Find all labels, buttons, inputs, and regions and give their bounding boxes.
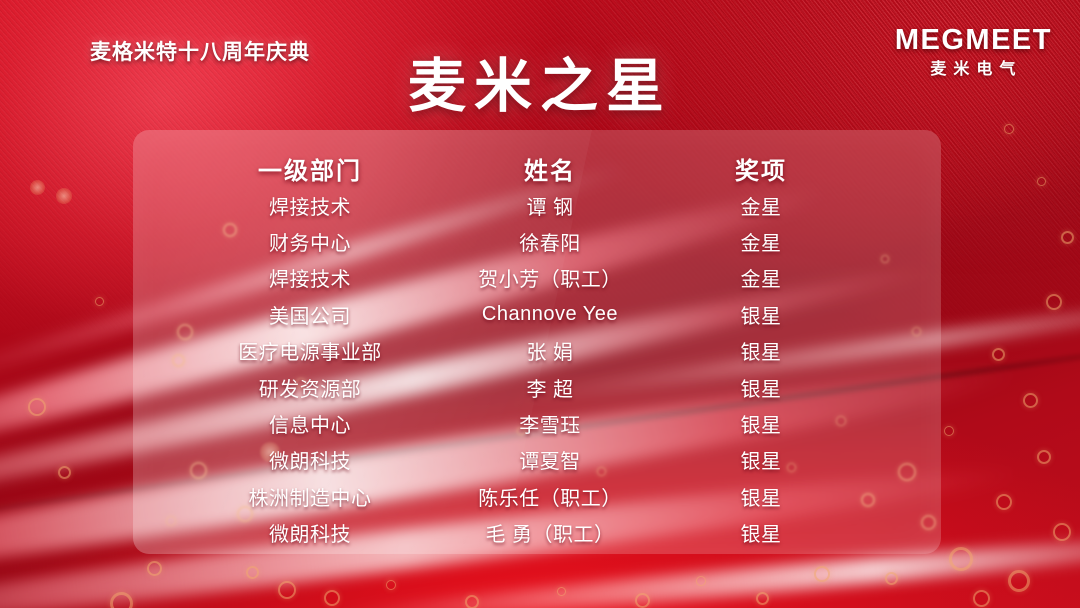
- table-cell-award: 金星: [667, 263, 855, 292]
- table-row: 株洲制造中心陈乐任（职工）银星: [133, 478, 941, 514]
- table-cell-name: 徐春阳: [427, 227, 673, 256]
- table-cell-award: 银星: [667, 336, 855, 365]
- award-table-panel: 一级部门姓名奖项焊接技术谭 钢金星财务中心徐春阳金星焊接技术贺小芳（职工）金星美…: [133, 130, 941, 554]
- table-cell-award: 银星: [667, 373, 855, 402]
- table-cell-department: 株洲制造中心: [190, 482, 430, 511]
- table-cell-department: 信息中心: [190, 409, 430, 438]
- table-cell-award: 银星: [667, 409, 855, 438]
- column-header-award: 奖项: [667, 151, 855, 186]
- table-cell-department: 微朗科技: [190, 445, 430, 474]
- table-cell-award: 金星: [667, 191, 855, 220]
- brand-logo-wordmark: MEGMEET: [895, 26, 1052, 55]
- table-row: 微朗科技毛 勇（职工）银星: [133, 515, 941, 551]
- table-header-row: 一级部门姓名奖项: [133, 150, 941, 186]
- table-row: 微朗科技谭夏智银星: [133, 442, 941, 478]
- table-cell-department: 美国公司: [190, 300, 430, 329]
- table-cell-award: 银星: [667, 445, 855, 474]
- slide-canvas: 麦格米特十八周年庆典 麦米之星 MEGMEET 麦米电气 一级部门姓名奖项焊接技…: [0, 0, 1080, 608]
- table-cell-department: 焊接技术: [190, 263, 430, 292]
- award-table: 一级部门姓名奖项焊接技术谭 钢金星财务中心徐春阳金星焊接技术贺小芳（职工）金星美…: [133, 130, 941, 554]
- table-cell-name: 李 超: [427, 373, 673, 402]
- column-header-name: 姓名: [427, 151, 673, 186]
- table-cell-award: 银星: [667, 482, 855, 511]
- table-cell-department: 医疗电源事业部: [190, 336, 430, 365]
- table-cell-name: 谭 钢: [427, 191, 673, 220]
- table-row: 财务中心徐春阳金星: [133, 223, 941, 259]
- table-cell-department: 微朗科技: [190, 518, 430, 547]
- table-row: 焊接技术谭 钢金星: [133, 187, 941, 223]
- table-cell-name: 张 娟: [427, 336, 673, 365]
- brand-logo-subtitle: 麦米电气: [895, 62, 1052, 78]
- brand-logo: MEGMEET 麦米电气: [895, 26, 1052, 78]
- table-row: 美国公司Channove Yee银星: [133, 296, 941, 332]
- table-cell-award: 银星: [667, 300, 855, 329]
- table-cell-award: 金星: [667, 227, 855, 256]
- table-row: 焊接技术贺小芳（职工）金星: [133, 260, 941, 296]
- table-cell-department: 财务中心: [190, 227, 430, 256]
- table-cell-name: 陈乐任（职工）: [427, 482, 673, 511]
- table-cell-name: 李雪珏: [427, 409, 673, 438]
- table-cell-award: 银星: [667, 518, 855, 547]
- table-cell-name: 毛 勇（职工）: [427, 518, 673, 547]
- table-cell-name: 谭夏智: [427, 445, 673, 474]
- table-cell-name: Channove Yee: [427, 303, 673, 326]
- table-row: 信息中心李雪珏银星: [133, 405, 941, 441]
- table-cell-department: 焊接技术: [190, 191, 430, 220]
- column-header-department: 一级部门: [190, 151, 430, 186]
- table-cell-name: 贺小芳（职工）: [427, 263, 673, 292]
- table-row: 医疗电源事业部张 娟银星: [133, 333, 941, 369]
- table-row: 研发资源部李 超银星: [133, 369, 941, 405]
- table-cell-department: 研发资源部: [190, 373, 430, 402]
